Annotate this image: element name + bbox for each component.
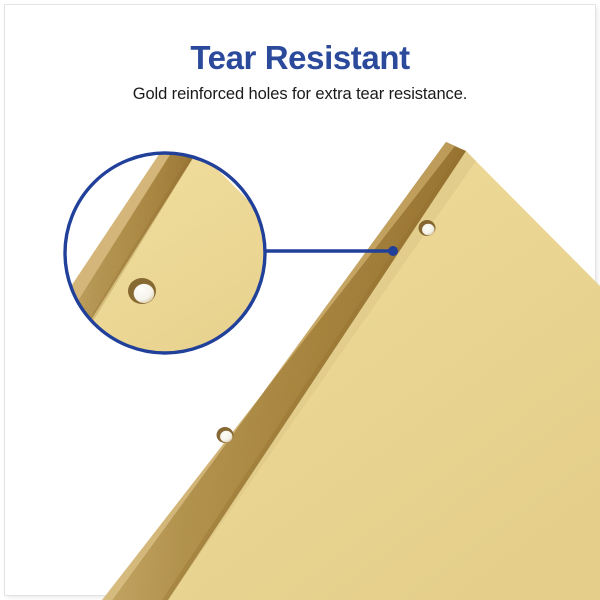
text-block: Tear Resistant Gold reinforced holes for… (0, 0, 600, 104)
page-title: Tear Resistant (0, 0, 600, 76)
product-feature-card: Tear Resistant Gold reinforced holes for… (0, 0, 600, 600)
leader-endpoint-dot (388, 246, 398, 256)
page-subtitle: Gold reinforced holes for extra tear res… (0, 76, 600, 104)
magnified-punched-hole (128, 278, 156, 304)
magnifier-content (62, 150, 360, 420)
